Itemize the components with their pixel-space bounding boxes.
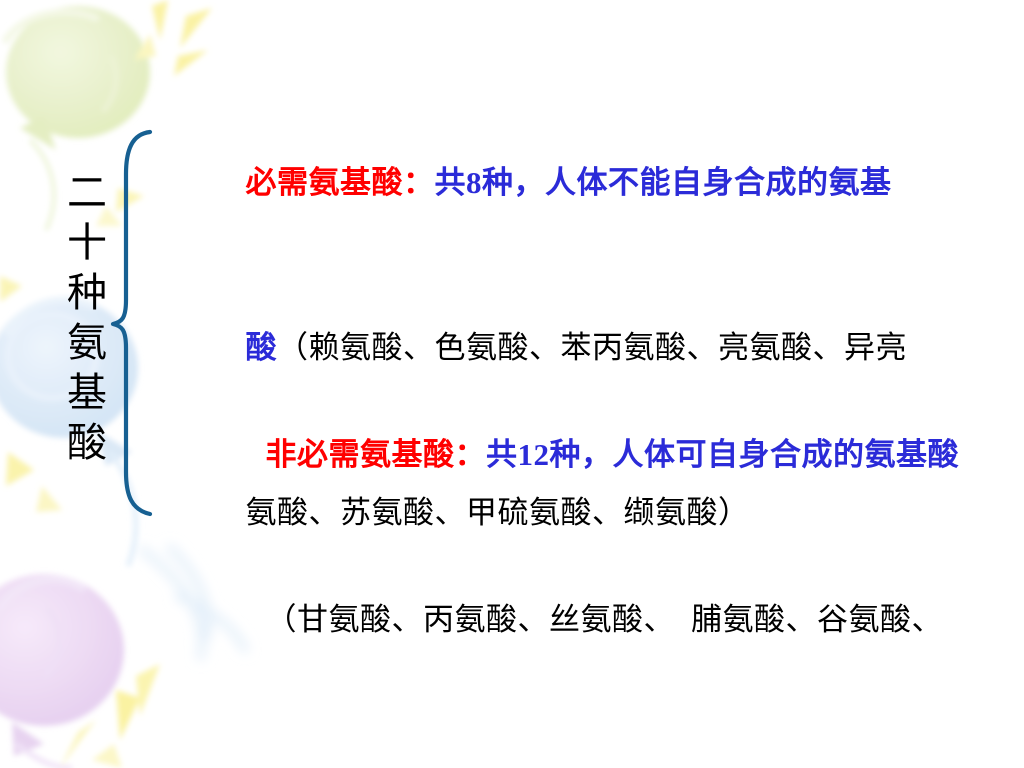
vertical-caption-char: 氨	[67, 318, 107, 368]
nonessential-heading-blue: 共12种，人体可自身合成的氨基酸	[486, 437, 959, 472]
sparkle-rays-bottom	[60, 664, 160, 768]
vertical-caption-char: 十	[67, 218, 107, 268]
nonessential-heading-red: 非必需氨基酸：	[266, 437, 487, 472]
vertical-caption-char: 种	[67, 268, 107, 318]
left-curly-brace-icon	[110, 128, 170, 518]
nonessential-amino-acids-block: 非必需氨基酸：共12种，人体可自身合成的氨基酸 （甘氨酸、丙氨酸、丝氨酸、 脯氨…	[216, 372, 1006, 768]
slide-canvas: 二 十 种 氨 基 酸 必需氨基酸：共8种，人体不能自身合成的氨基 酸（赖氨酸、…	[0, 0, 1024, 768]
text-line: 必需氨基酸：共8种，人体不能自身合成的氨基	[196, 100, 986, 265]
nonessential-list-part: （甘氨酸、丙氨酸、丝氨酸、 脯氨酸、谷氨酸、	[266, 602, 944, 637]
text-line: 天冬氨、 精氨酸、酪氨酸、组氨酸、 谷氨酰胺、	[216, 702, 1006, 768]
vertical-caption-char: 基	[67, 368, 107, 418]
vertical-caption-char: 二	[67, 168, 107, 218]
essential-list-part: （赖氨酸、色氨酸、苯丙氨酸、亮氨酸、异亮	[277, 330, 907, 365]
essential-heading-blue-cont: 酸	[246, 330, 278, 365]
essential-heading-red: 必需氨基酸：	[246, 165, 435, 200]
vertical-caption: 二 十 种 氨 基 酸	[56, 168, 118, 468]
essential-heading-blue: 共8种，人体不能自身合成的氨基	[435, 165, 892, 200]
vertical-caption-char: 酸	[67, 418, 107, 468]
sparkle-rays-middle	[0, 276, 62, 512]
text-line: （甘氨酸、丙氨酸、丝氨酸、 脯氨酸、谷氨酸、	[216, 537, 1006, 702]
balloon-purple-decoration	[0, 574, 124, 768]
text-line: 非必需氨基酸：共12种，人体可自身合成的氨基酸	[216, 372, 1006, 537]
